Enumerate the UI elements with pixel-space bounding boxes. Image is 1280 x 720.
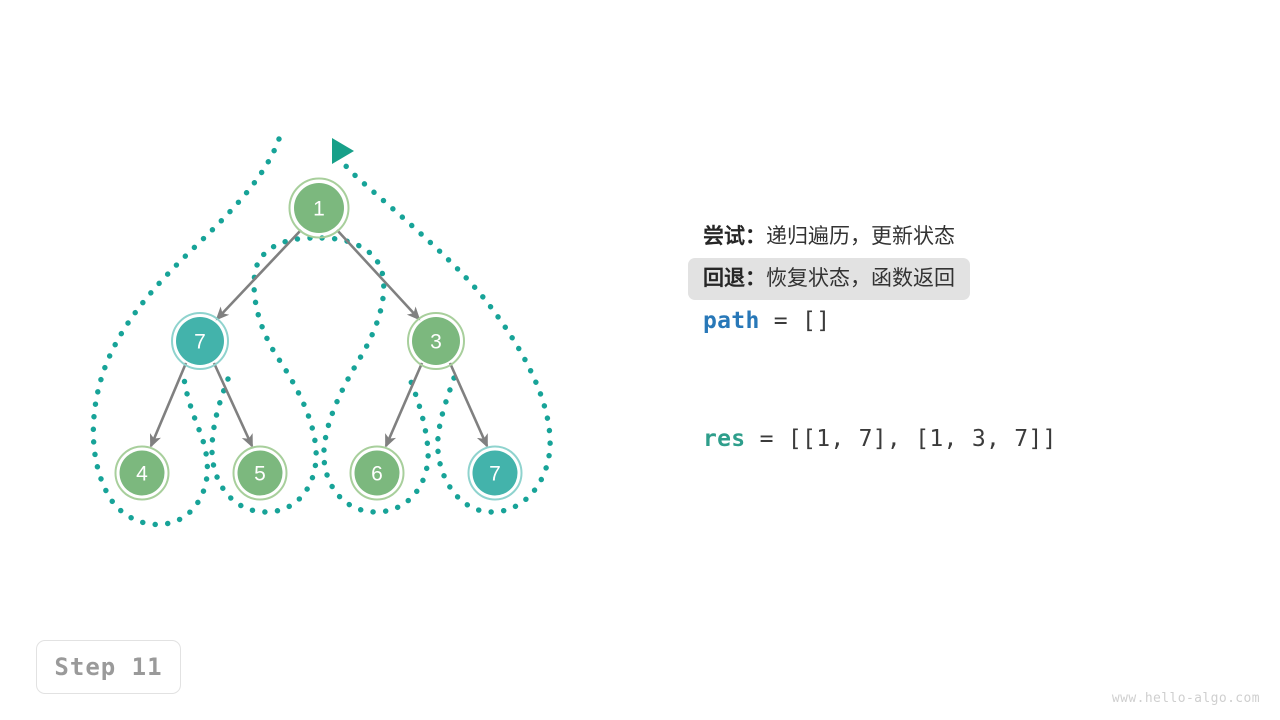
path-variable-row: path = []	[688, 300, 1228, 342]
try-line-text: 递归遍历，更新状态	[766, 225, 955, 248]
tree-node-7-left[interactable]: 7	[172, 313, 228, 369]
tree-node-7-right[interactable]: 7	[469, 447, 522, 500]
path-value: []	[802, 308, 830, 334]
slide-canvas: 1 7 3 4	[0, 0, 1280, 720]
edge-1-7	[217, 230, 301, 319]
tree-node-5-label: 5	[254, 463, 266, 486]
try-line-keyword: 尝试：	[703, 225, 766, 248]
traversal-cursor-icon	[332, 138, 354, 164]
tree-node-6-label: 6	[371, 463, 383, 486]
tree-node-1[interactable]: 1	[290, 179, 349, 238]
explanation-panel: 尝试：递归遍历，更新状态 回退：恢复状态，函数返回 path = [] res …	[688, 216, 1228, 460]
tree-node-4-label: 4	[136, 463, 148, 486]
site-watermark-text: www.hello-algo.com	[1112, 691, 1260, 706]
tree-node-7-right-label: 7	[489, 463, 501, 486]
tree-node-6[interactable]: 6	[351, 447, 404, 500]
edge-1-3	[337, 230, 419, 319]
res-variable-name: res	[703, 426, 745, 452]
backtrack-line: 回退：恢复状态，函数返回	[688, 258, 970, 300]
tree-svg: 1 7 3 4	[60, 120, 580, 540]
tree-node-7-left-label: 7	[194, 331, 206, 354]
tree-node-4[interactable]: 4	[116, 447, 169, 500]
backtrack-line-row: 回退：恢复状态，函数返回	[688, 258, 1228, 300]
path-variable-name: path	[703, 308, 760, 334]
panel-spacer	[688, 342, 1228, 418]
edge-3-7	[450, 363, 487, 446]
tree-node-3-label: 3	[430, 331, 442, 354]
edge-3-6	[386, 363, 422, 446]
res-value: [[1, 7], [1, 3, 7]]	[788, 426, 1057, 452]
res-variable-row: res = [[1, 7], [1, 3, 7]]	[688, 418, 1228, 460]
try-line-row: 尝试：递归遍历，更新状态	[688, 216, 1228, 258]
step-badge-label: Step 11	[54, 653, 162, 681]
tree-node-1-label: 1	[313, 198, 325, 221]
path-expression: path = []	[688, 300, 845, 342]
backtrack-line-text: 恢复状态，函数返回	[766, 267, 955, 290]
binary-tree-diagram: 1 7 3 4	[60, 120, 580, 540]
site-watermark: www.hello-algo.com	[1112, 691, 1260, 706]
res-equals: =	[745, 426, 787, 452]
try-line: 尝试：递归遍历，更新状态	[688, 216, 970, 258]
edge-7-4	[151, 363, 186, 446]
tree-node-3[interactable]: 3	[408, 313, 464, 369]
tree-node-5[interactable]: 5	[234, 447, 287, 500]
path-equals: =	[760, 308, 802, 334]
res-expression: res = [[1, 7], [1, 3, 7]]	[688, 418, 1072, 460]
step-badge: Step 11	[36, 640, 181, 694]
backtrack-line-keyword: 回退：	[703, 267, 766, 290]
